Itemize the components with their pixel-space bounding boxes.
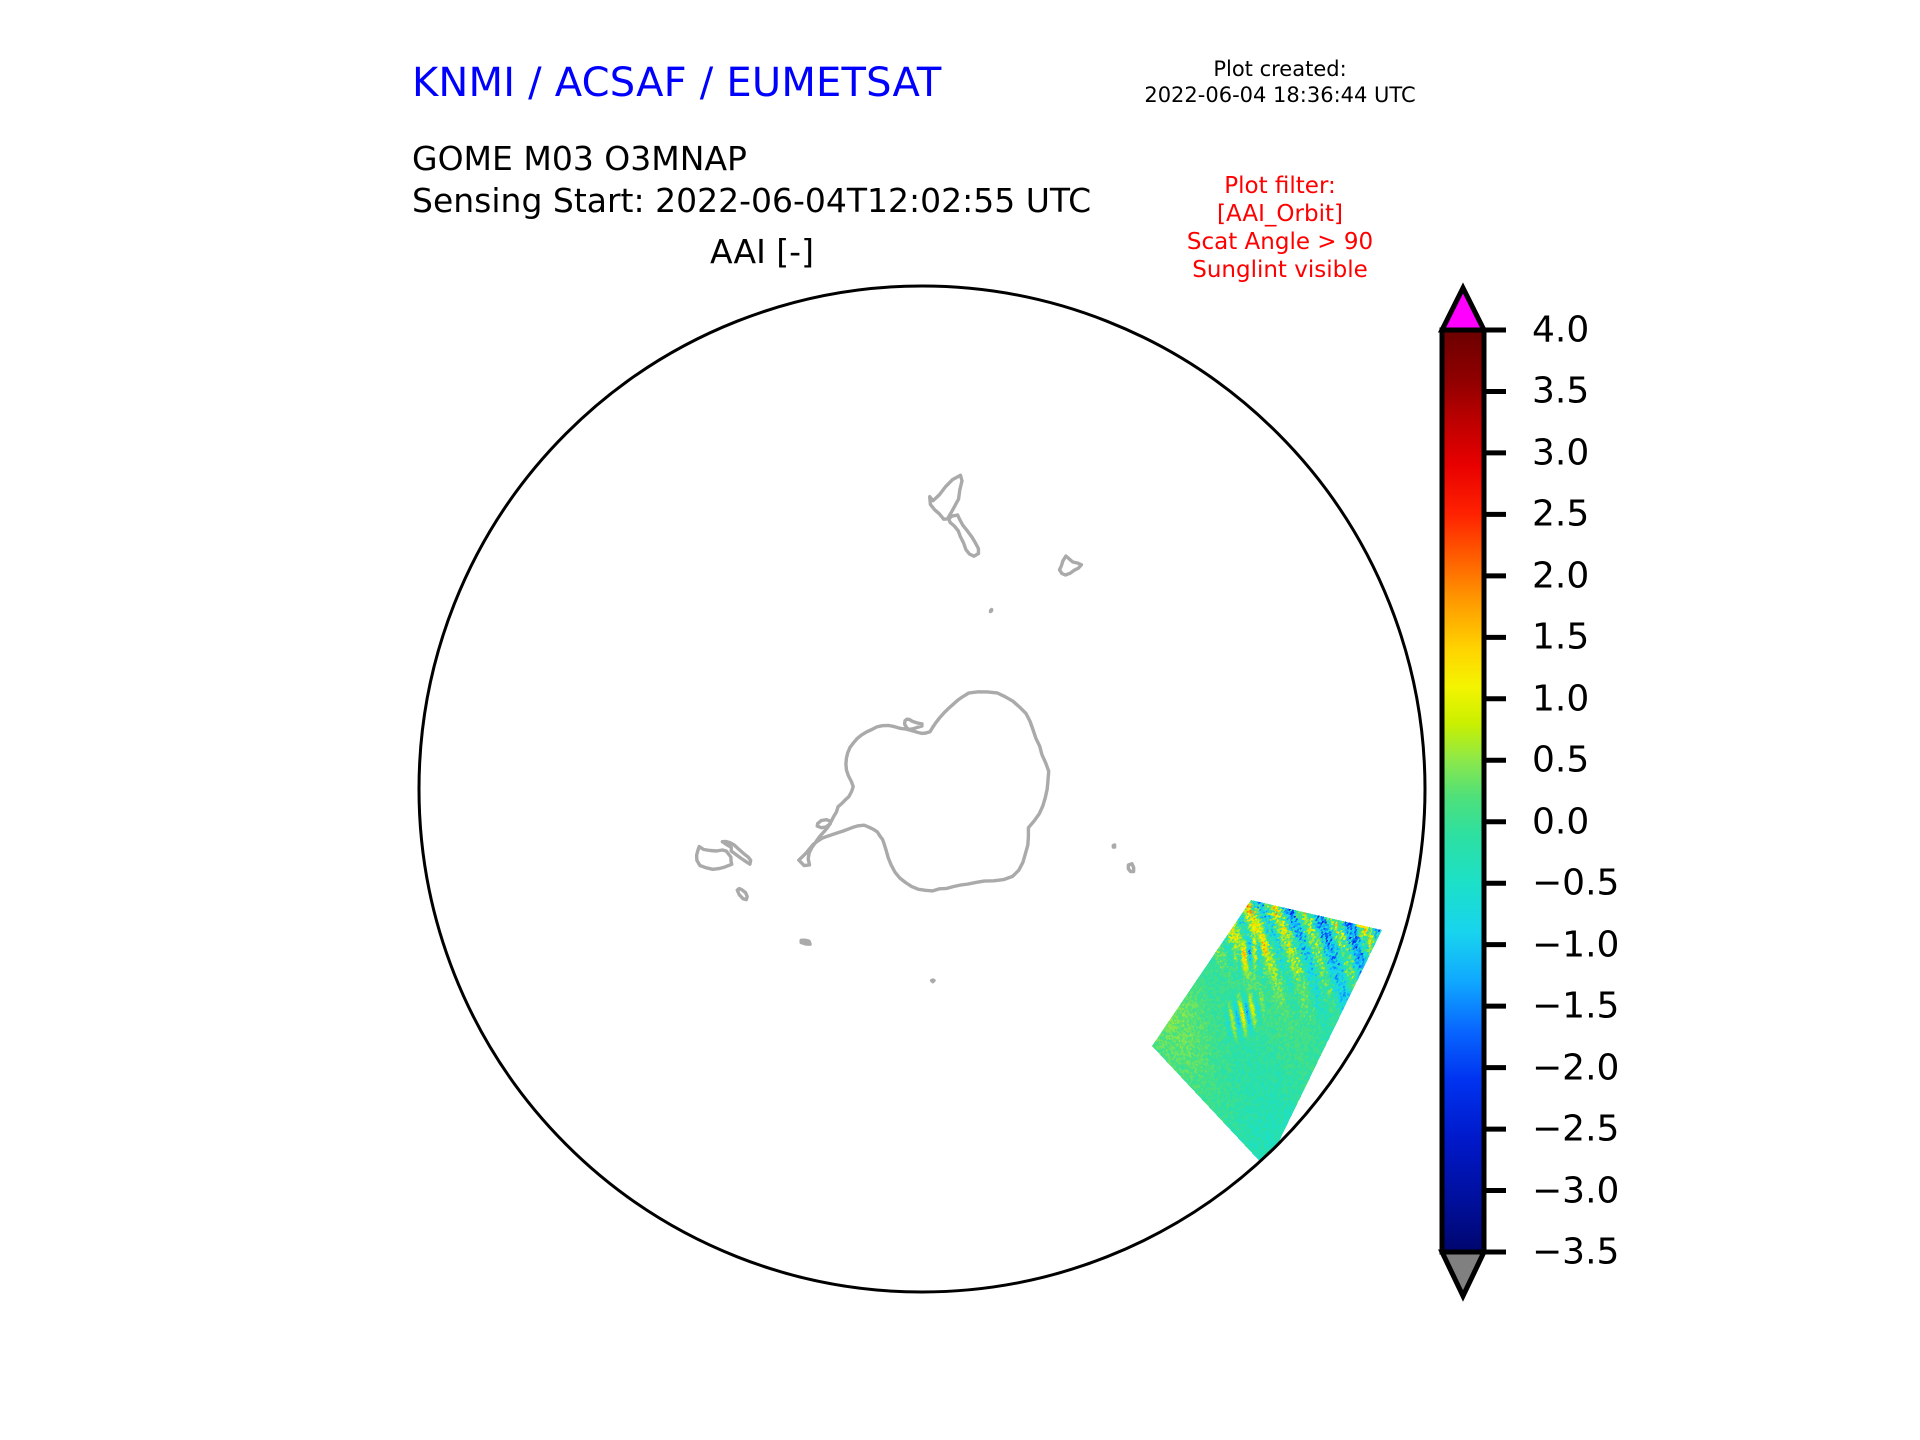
over-range-arrow xyxy=(1442,288,1484,330)
colorbar-tick-labels: 4.03.53.02.52.01.51.00.50.0−0.5−1.0−1.5−… xyxy=(1532,280,1752,1320)
coastline-macquarie-island xyxy=(991,610,992,612)
colorbar-tick-label: −1.5 xyxy=(1532,986,1619,1027)
colorbar-ticks xyxy=(1484,330,1506,1252)
colorbar-tick-label: 2.5 xyxy=(1532,494,1589,535)
colorbar-tick-label: 0.0 xyxy=(1532,801,1589,842)
coastline-heard-island xyxy=(1113,845,1114,847)
colorbar-tick-label: 0.5 xyxy=(1532,740,1589,781)
colorbar-tick-label: 3.0 xyxy=(1532,432,1589,473)
under-range-arrow xyxy=(1442,1252,1484,1296)
colorbar-tick-label: −3.0 xyxy=(1532,1170,1619,1211)
colorbar: 4.03.53.02.52.01.51.00.50.0−0.5−1.0−1.5−… xyxy=(1432,280,1852,1320)
colorbar-tick-label: 1.0 xyxy=(1532,678,1589,719)
colorbar-gradient-bar xyxy=(1442,330,1484,1252)
colorbar-tick-label: −0.5 xyxy=(1532,863,1619,904)
colorbar-tick-label: −2.5 xyxy=(1532,1109,1619,1150)
coastline-bouvet-island xyxy=(932,980,934,982)
colorbar-tick-label: 2.0 xyxy=(1532,555,1589,596)
colorbar-tick-label: −1.0 xyxy=(1532,924,1619,965)
colorbar-tick-label: −3.5 xyxy=(1532,1232,1619,1273)
colorbar-tick-label: 4.0 xyxy=(1532,310,1589,351)
coastline-south-georgia xyxy=(801,940,810,944)
colorbar-tick-label: 1.5 xyxy=(1532,617,1589,658)
colorbar-tick-label: 3.5 xyxy=(1532,371,1589,412)
plot-canvas: KNMI / ACSAF / EUMETSAT Plot created: 20… xyxy=(0,0,1920,1440)
colorbar-tick-label: −2.0 xyxy=(1532,1047,1619,1088)
